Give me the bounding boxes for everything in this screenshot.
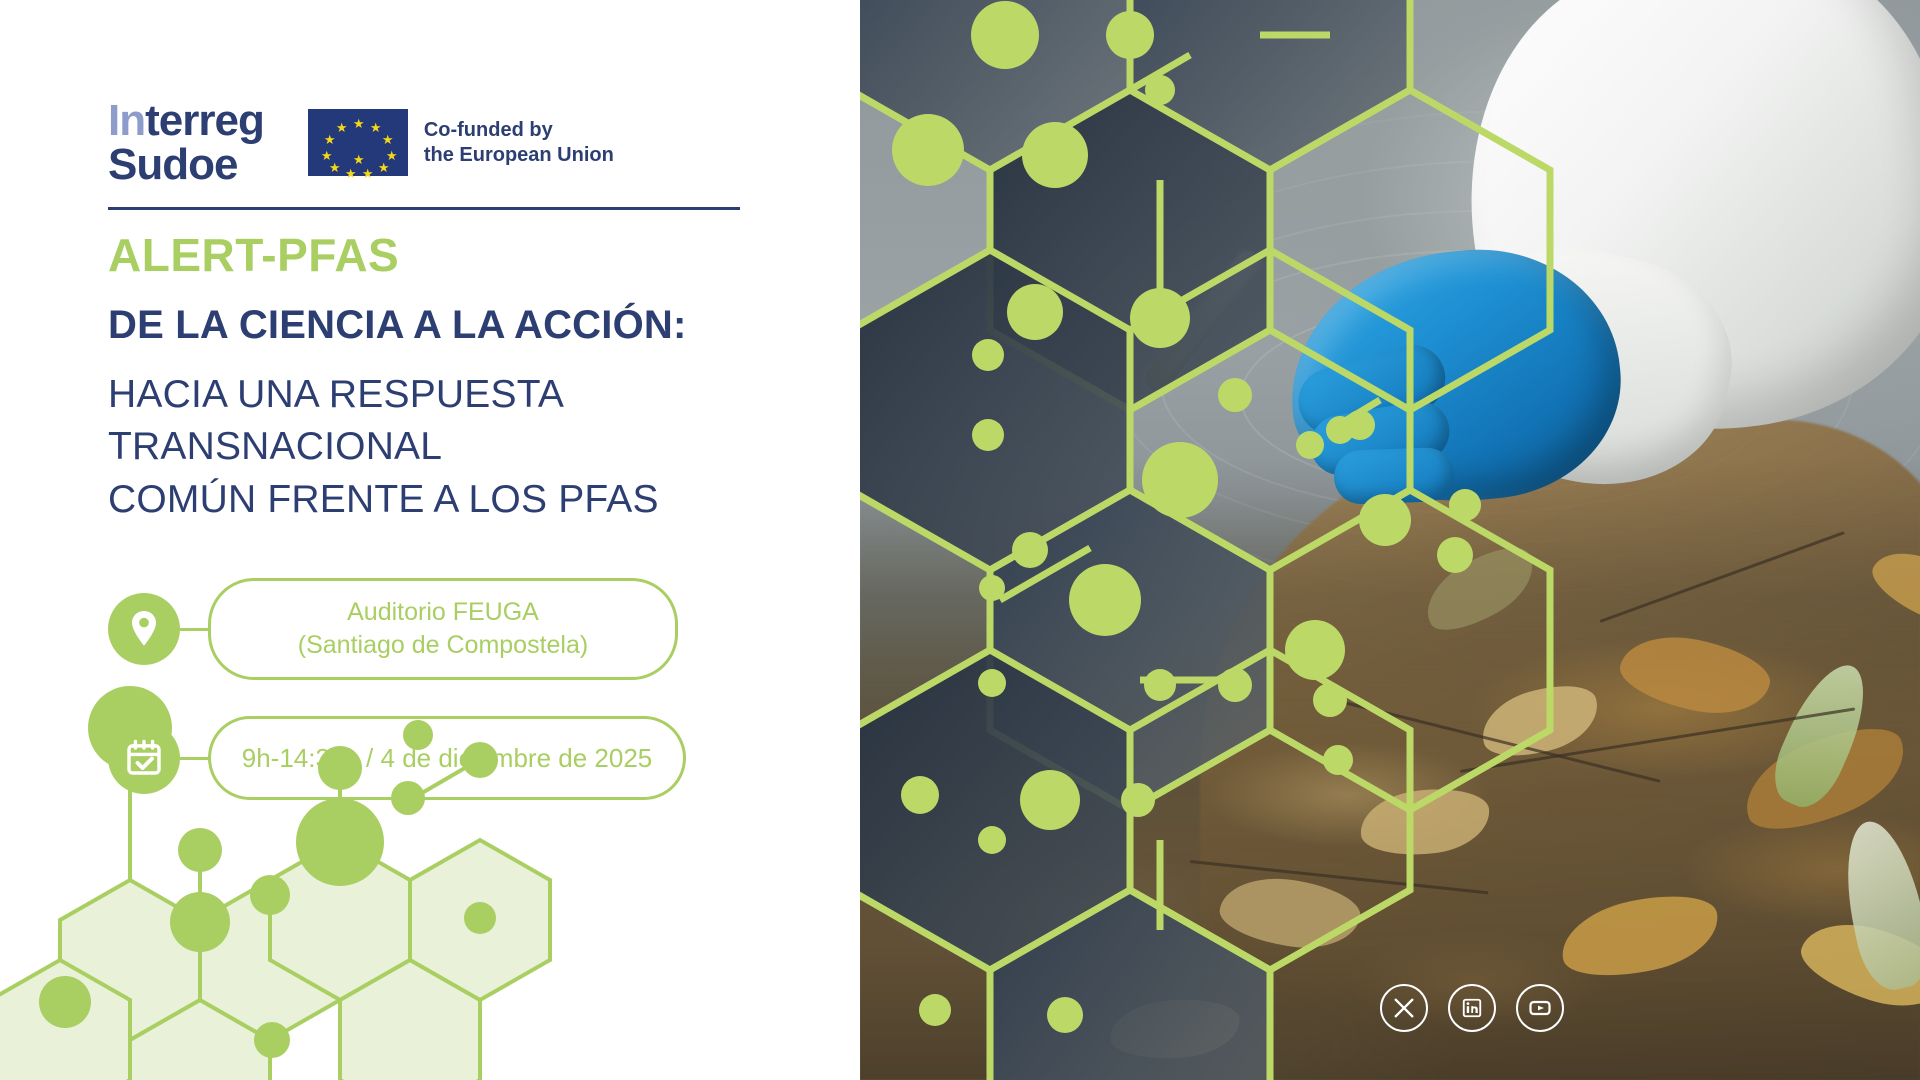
map-pin-icon [108, 593, 180, 665]
event-title-line1: DE LA CIENCIA A LA ACCIÓN: [108, 303, 687, 348]
social-links [1380, 984, 1564, 1032]
divider [108, 207, 740, 210]
pill-connector [180, 628, 208, 631]
interreg-sudoe-logo: Interreg Sudoe [108, 100, 264, 186]
location-pill: Auditorio FEUGA (Santiago de Compostela) [208, 578, 678, 680]
logo-row: Interreg Sudoe ★ ★ ★ ★ ★ ★ ★ ★ ★ ★ ★ ★ [108, 100, 614, 186]
pill-connector [180, 757, 208, 760]
glove-finger [1333, 447, 1455, 505]
location-row: Auditorio FEUGA (Santiago de Compostela) [108, 578, 678, 680]
eu-cofunded-text: Co-funded by the European Union [424, 118, 614, 168]
interreg-wordmark-rest: terreg [145, 96, 264, 145]
event-subtitle: HACIA UNA RESPUESTA TRANSNACIONAL COMÚN … [108, 369, 659, 526]
youtube-icon[interactable] [1516, 984, 1564, 1032]
content-column: Interreg Sudoe ★ ★ ★ ★ ★ ★ ★ ★ ★ ★ ★ ★ [0, 0, 880, 1080]
sudoe-wordmark: Sudoe [108, 144, 264, 186]
event-title-line2: HACIA UNA RESPUESTA [108, 369, 659, 421]
date-pill: 9h-14:30h / 4 de diciembre de 2025 [208, 716, 686, 800]
interreg-wordmark: Interreg [108, 100, 264, 142]
eu-cofunded-line1: Co-funded by [424, 118, 614, 143]
location-line1: Auditorio FEUGA [298, 596, 588, 629]
event-title-line4: COMÚN FRENTE A LOS PFAS [108, 474, 659, 526]
european-union-flag: ★ ★ ★ ★ ★ ★ ★ ★ ★ ★ ★ ★ [308, 109, 408, 176]
location-line2: (Santiago de Compostela) [298, 629, 588, 662]
hero-photo [860, 0, 1920, 1080]
event-title-line3: TRANSNACIONAL [108, 421, 659, 473]
calendar-check-icon [108, 722, 180, 794]
event-banner: Interreg Sudoe ★ ★ ★ ★ ★ ★ ★ ★ ★ ★ ★ ★ [0, 0, 1920, 1080]
eu-cofunded-line2: the European Union [424, 143, 614, 168]
x-twitter-icon[interactable] [1380, 984, 1428, 1032]
eu-cofunded-logo: ★ ★ ★ ★ ★ ★ ★ ★ ★ ★ ★ ★ Co-funded by the… [308, 109, 614, 176]
linkedin-icon[interactable] [1448, 984, 1496, 1032]
date-row: 9h-14:30h / 4 de diciembre de 2025 [108, 716, 686, 800]
hexagon-decoration [0, 650, 620, 1080]
project-name: ALERT-PFAS [108, 228, 399, 282]
